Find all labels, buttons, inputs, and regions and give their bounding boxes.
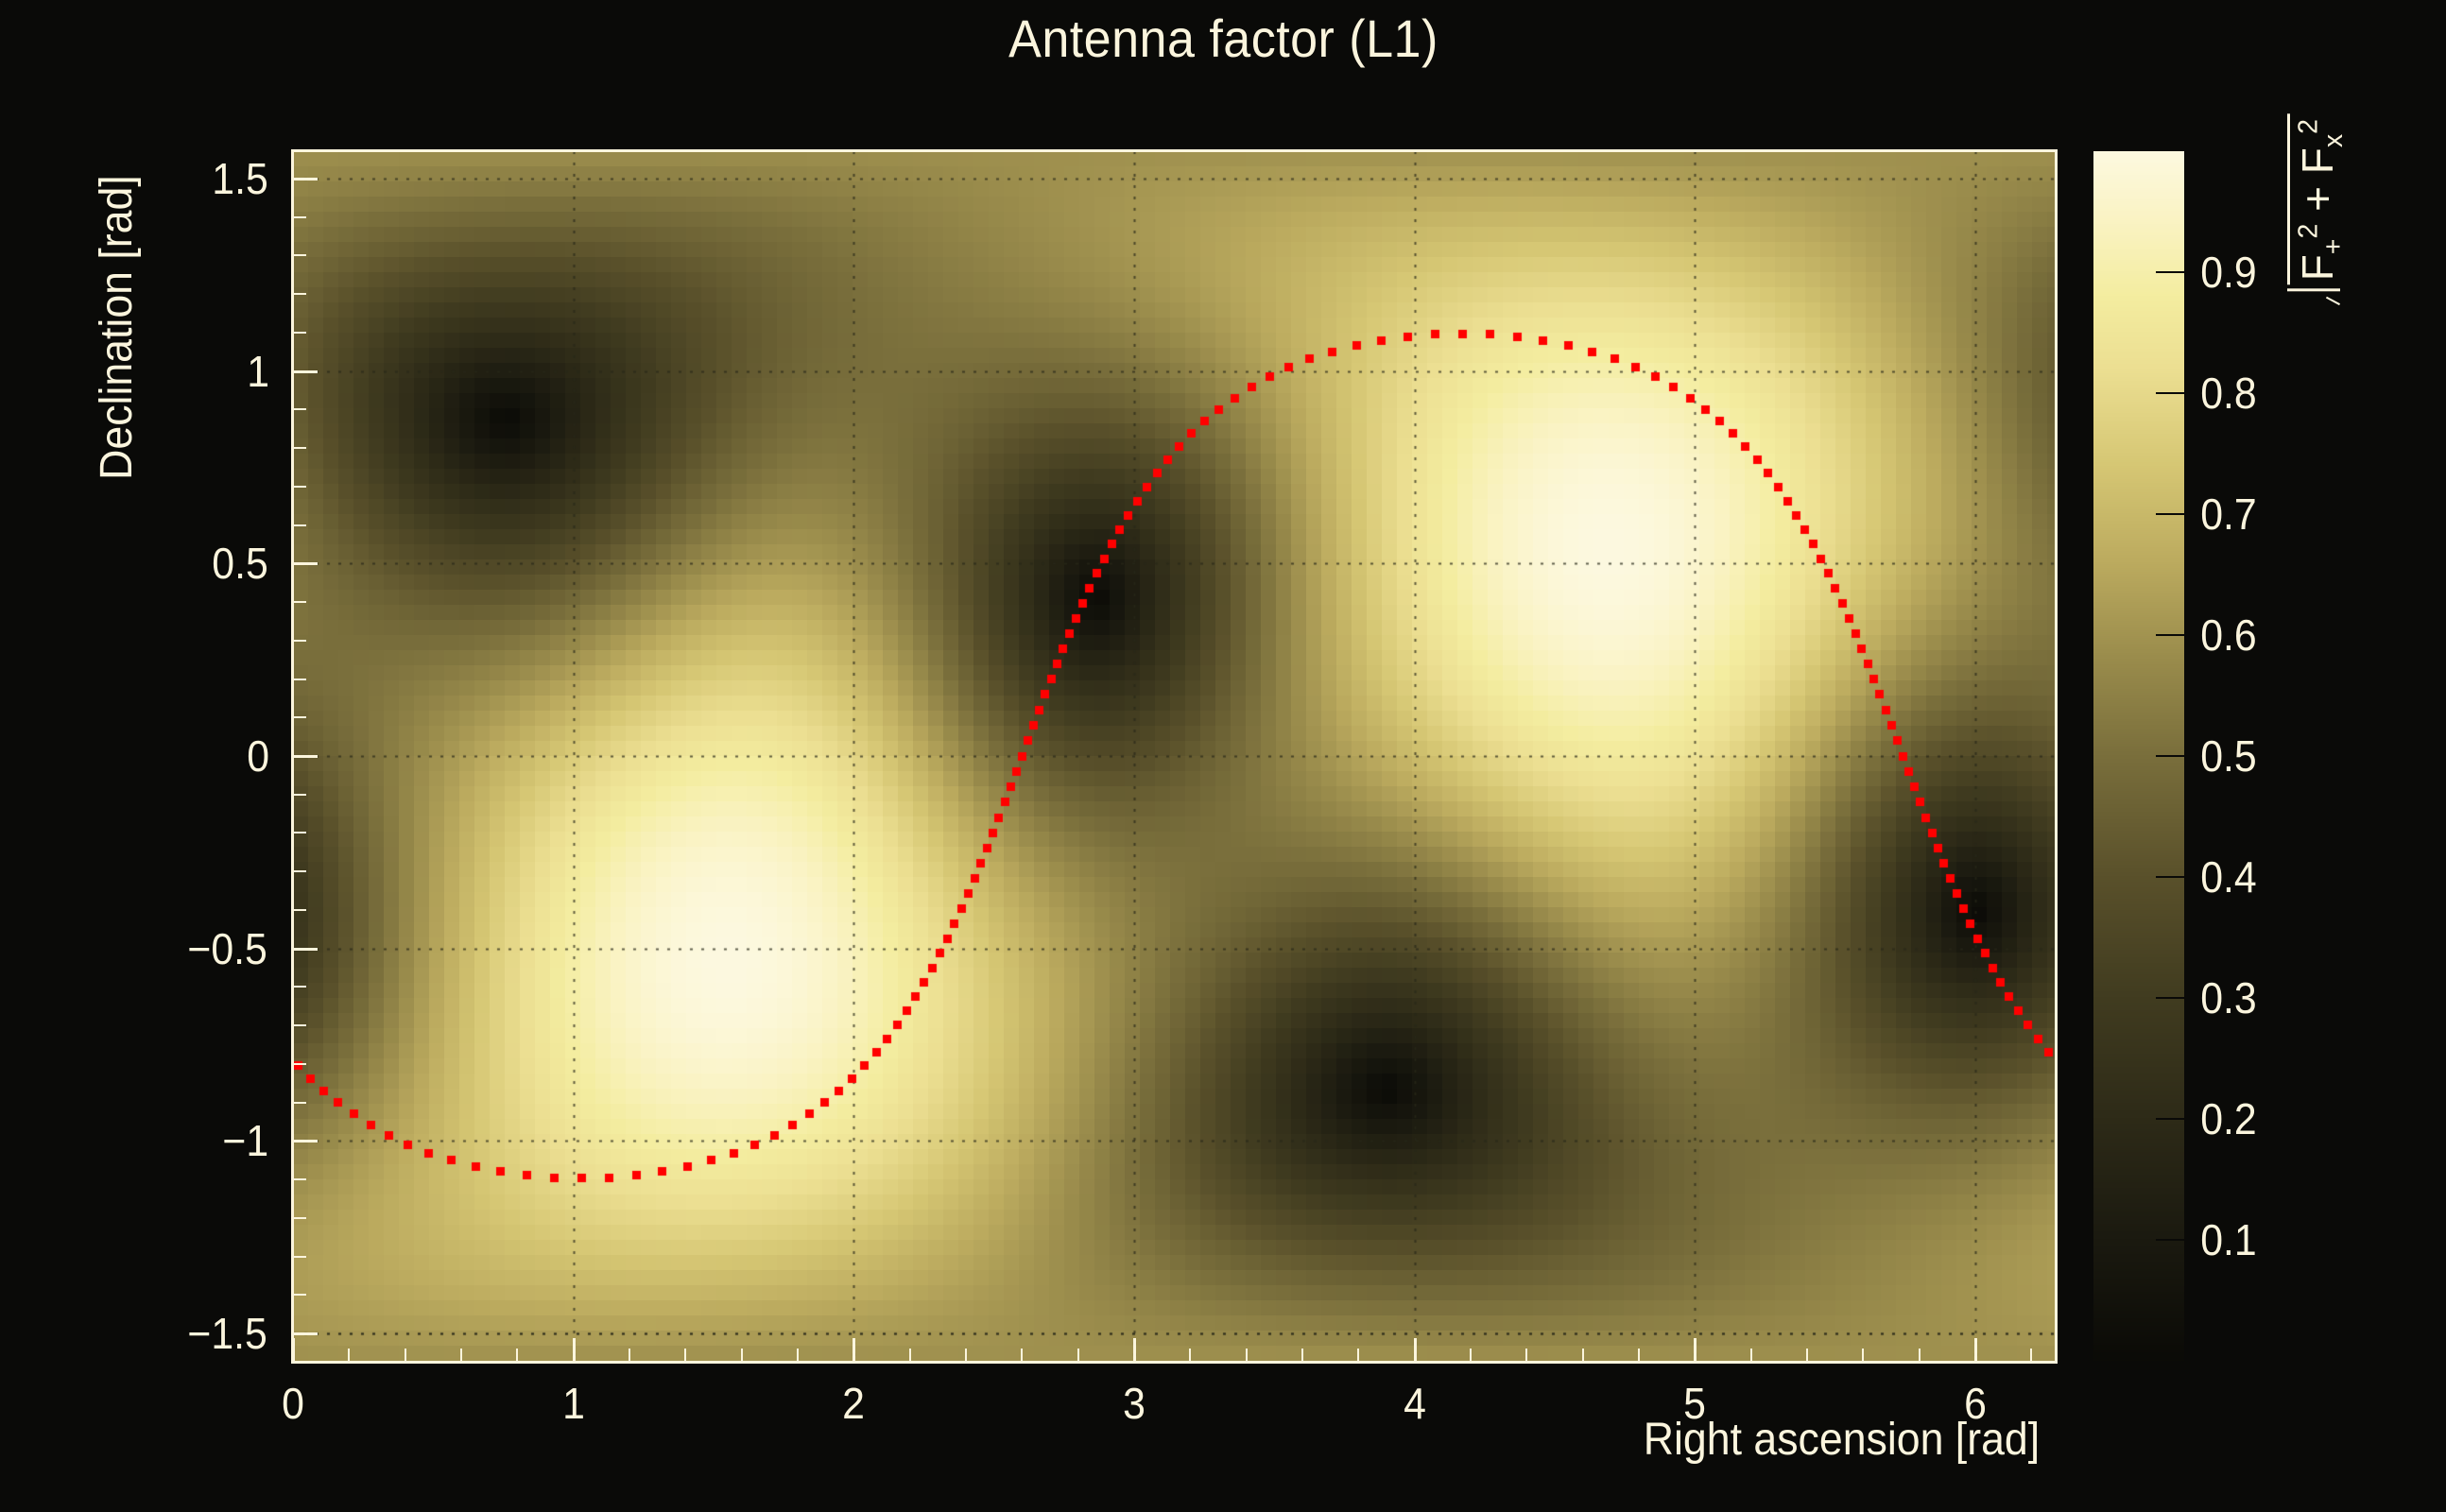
x-tick-mark — [853, 1338, 855, 1361]
x-minor-tick-mark — [1750, 1349, 1752, 1361]
y-minor-tick-mark — [293, 1294, 306, 1296]
y-tick-label: −0.5 — [184, 923, 270, 974]
y-tick-mark — [293, 370, 318, 373]
x-minor-tick-mark — [1470, 1349, 1472, 1361]
x-tick-label: 4 — [1403, 1378, 1427, 1429]
colorbar-tick-mark — [2156, 876, 2184, 878]
y-tick-mark — [293, 1332, 318, 1335]
f-cross-sub: x — [2318, 134, 2349, 147]
plot-top-line — [291, 149, 2058, 152]
x-minor-tick-mark — [741, 1349, 743, 1361]
colorbar-tick-mark — [2156, 271, 2184, 273]
y-tick-mark — [293, 1140, 318, 1143]
x-minor-tick-mark — [1806, 1349, 1808, 1361]
x-tick-mark — [573, 1338, 576, 1361]
y-tick-mark — [293, 948, 318, 951]
x-minor-tick-mark — [1862, 1349, 1864, 1361]
y-tick-mark — [293, 755, 318, 758]
x-minor-tick-mark — [1919, 1349, 1921, 1361]
x-minor-tick-mark — [516, 1349, 518, 1361]
colorbar-tick-label: 0.2 — [2198, 1093, 2259, 1144]
y-minor-tick-mark — [293, 909, 306, 911]
colorbar-axis-title: F+2 + Fx2 — [2287, 113, 2343, 305]
y-tick-mark — [293, 178, 318, 180]
chart-title-text: Antenna factor (L1) — [1008, 8, 1438, 69]
y-minor-tick-mark — [293, 332, 306, 334]
y-minor-tick-mark — [293, 524, 306, 526]
plot-area — [293, 151, 2055, 1361]
colorbar-tick-label: 0.3 — [2198, 972, 2259, 1023]
y-minor-tick-mark — [293, 1102, 306, 1104]
radical-sign-icon — [2287, 284, 2342, 305]
y-minor-tick-mark — [293, 1217, 306, 1219]
y-minor-tick-mark — [293, 447, 306, 449]
y-minor-tick-mark — [293, 1024, 306, 1026]
colorbar-tick-label: 0.1 — [2198, 1214, 2259, 1265]
x-minor-tick-mark — [909, 1349, 911, 1361]
y-tick-label: −1.5 — [184, 1308, 270, 1359]
colorbar-tick-mark — [2156, 392, 2184, 394]
x-minor-tick-mark — [1077, 1349, 1079, 1361]
y-minor-tick-mark — [293, 293, 306, 295]
colorbar-title-text: F+2 + Fx2 — [2287, 113, 2343, 284]
x-minor-tick-mark — [965, 1349, 967, 1361]
chart-root: Antenna factor (L1) 0123456 −1.5−1−0.500… — [0, 0, 2446, 1512]
y-minor-tick-mark — [293, 601, 306, 603]
y-axis-title-text: Declination [rad] — [91, 175, 143, 480]
x-axis-line — [291, 1361, 2058, 1364]
y-tick-label: −1 — [221, 1115, 270, 1166]
x-minor-tick-mark — [1301, 1349, 1303, 1361]
x-minor-tick-mark — [1021, 1349, 1023, 1361]
x-minor-tick-mark — [1357, 1349, 1359, 1361]
y-minor-tick-mark — [293, 486, 306, 488]
x-axis-title: Right ascension [rad] — [1628, 1414, 2055, 1466]
overlay-grid-and-curve-canvas — [293, 151, 2055, 1361]
x-tick-label: 1 — [561, 1378, 586, 1429]
plot-right-line — [2055, 149, 2058, 1364]
y-tick-label: 0.5 — [210, 538, 270, 589]
colorbar-tick-label: 0.9 — [2198, 247, 2259, 298]
x-tick-mark — [1414, 1338, 1417, 1361]
x-minor-tick-mark — [629, 1349, 630, 1361]
y-minor-tick-mark — [293, 1256, 306, 1258]
y-axis-title: Declination [rad] — [91, 163, 143, 491]
y-minor-tick-mark — [293, 254, 306, 256]
colorbar-tick-label: 0.4 — [2198, 851, 2259, 902]
y-tick-label: 1 — [246, 346, 270, 397]
y-minor-tick-mark — [293, 986, 306, 988]
x-minor-tick-mark — [348, 1349, 350, 1361]
colorbar-tick-mark — [2156, 1118, 2184, 1120]
y-minor-tick-mark — [293, 679, 306, 680]
y-minor-tick-mark — [293, 870, 306, 872]
y-minor-tick-mark — [293, 640, 306, 642]
x-tick-mark — [1694, 1338, 1697, 1361]
x-minor-tick-mark — [1638, 1349, 1640, 1361]
colorbar-tick-mark — [2156, 997, 2184, 999]
x-minor-tick-mark — [460, 1349, 462, 1361]
f-plus-base: F — [2293, 254, 2342, 281]
x-minor-tick-mark — [797, 1349, 799, 1361]
f-plus-sup: 2 — [2294, 224, 2324, 239]
chart-title: Antenna factor (L1) — [0, 8, 2446, 69]
x-minor-tick-mark — [405, 1349, 406, 1361]
plus-operator: + — [2293, 186, 2342, 212]
y-tick-label: 0 — [246, 730, 270, 782]
f-cross-base: F — [2293, 147, 2342, 174]
y-tick-mark — [293, 562, 318, 565]
y-minor-tick-mark — [293, 1178, 306, 1180]
x-minor-tick-mark — [2030, 1349, 2032, 1361]
colorbar-tick-mark — [2156, 513, 2184, 515]
colorbar-tick-mark — [2156, 1239, 2184, 1241]
colorbar-tick-label: 0.8 — [2198, 368, 2259, 419]
colorbar-tick-label: 0.7 — [2198, 489, 2259, 540]
x-minor-tick-mark — [1582, 1349, 1584, 1361]
x-axis-title-text: Right ascension [rad] — [1644, 1414, 2040, 1466]
x-tick-mark — [1974, 1338, 1977, 1361]
y-minor-tick-mark — [293, 716, 306, 718]
x-minor-tick-mark — [1246, 1349, 1248, 1361]
x-tick-label: 0 — [281, 1378, 305, 1429]
x-tick-mark — [1133, 1338, 1136, 1361]
x-minor-tick-mark — [1189, 1349, 1191, 1361]
x-tick-label: 2 — [842, 1378, 867, 1429]
x-minor-tick-mark — [1525, 1349, 1527, 1361]
y-tick-label: 1.5 — [210, 153, 270, 204]
y-minor-tick-mark — [293, 794, 306, 796]
y-minor-tick-mark — [293, 408, 306, 410]
y-minor-tick-mark — [293, 832, 306, 833]
y-minor-tick-mark — [293, 216, 306, 218]
y-minor-tick-mark — [293, 1063, 306, 1065]
colorbar-tick-mark — [2156, 755, 2184, 757]
colorbar-tick-mark — [2156, 634, 2184, 636]
f-cross-sup: 2 — [2294, 119, 2324, 134]
x-minor-tick-mark — [684, 1349, 686, 1361]
sqrt-icon: F+2 + Fx2 — [2287, 113, 2343, 305]
colorbar-tick-label: 0.5 — [2198, 730, 2259, 782]
x-tick-mark — [292, 1338, 295, 1361]
colorbar-tick-label: 0.6 — [2198, 610, 2259, 661]
x-tick-label: 3 — [1122, 1378, 1146, 1429]
f-plus-sub: + — [2318, 239, 2349, 255]
